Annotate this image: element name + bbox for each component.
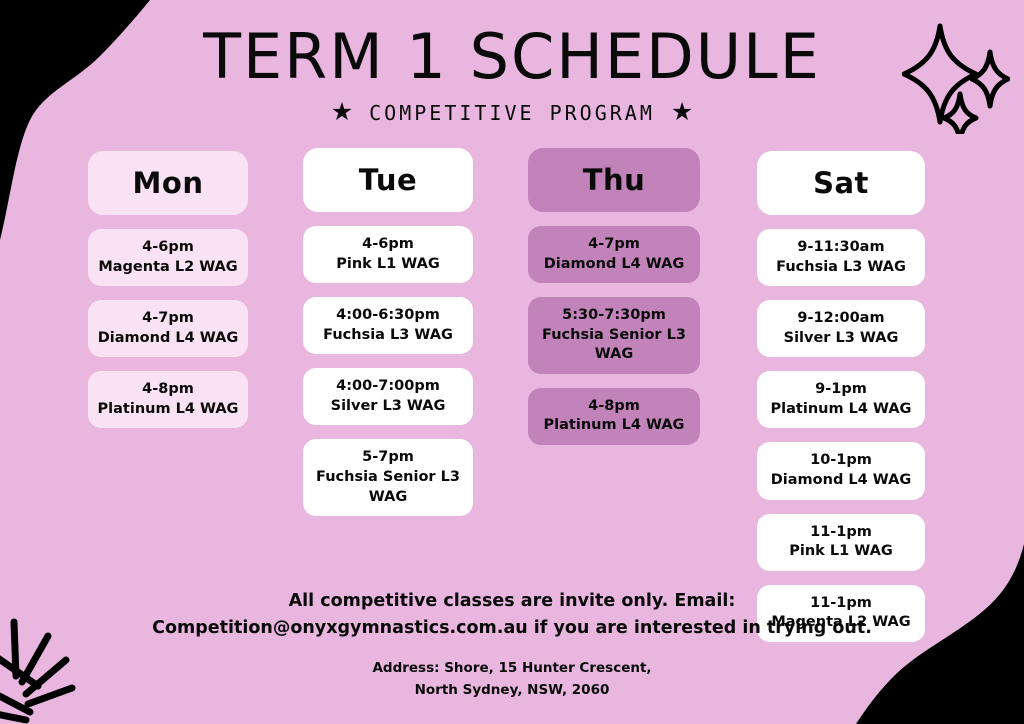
schedule-poster: TERM 1 SCHEDULE ★ COMPETITIVE PROGRAM ★ … — [0, 0, 1024, 724]
class-card: 10-1pm Diamond L4 WAG — [757, 442, 925, 499]
class-time: 11-1pm — [810, 523, 872, 543]
class-time: 5:30-7:30pm — [562, 306, 666, 326]
day-label: Thu — [583, 163, 646, 197]
class-card: 9-11:30am Fuchsia L3 WAG — [757, 229, 925, 286]
class-time: 10-1pm — [810, 451, 872, 471]
class-time: 4-8pm — [588, 397, 640, 417]
poster-heading: TERM 1 SCHEDULE ★ COMPETITIVE PROGRAM ★ — [0, 26, 1024, 125]
class-time: 9-1pm — [815, 380, 867, 400]
footer-address: Address: Shore, 15 Hunter Crescent, Nort… — [0, 658, 1024, 701]
class-card: 4-6pm Pink L1 WAG — [303, 226, 473, 283]
class-name: Fuchsia L3 WAG — [323, 326, 453, 346]
class-name: Pink L1 WAG — [336, 255, 439, 275]
class-card: 11-1pm Pink L1 WAG — [757, 514, 925, 571]
class-time: 5-7pm — [362, 448, 414, 468]
class-time: 4-7pm — [142, 309, 194, 329]
class-name: Fuchsia Senior L3 WAG — [311, 468, 465, 507]
class-name: Pink L1 WAG — [789, 542, 892, 562]
class-card: 4:00-6:30pm Fuchsia L3 WAG — [303, 297, 473, 354]
class-name: Platinum L4 WAG — [771, 400, 912, 420]
class-card: 4-6pm Magenta L2 WAG — [88, 229, 248, 286]
subtitle-row: ★ COMPETITIVE PROGRAM ★ — [0, 100, 1024, 125]
class-card: 5-7pm Fuchsia Senior L3 WAG — [303, 439, 473, 516]
class-card: 4-8pm Platinum L4 WAG — [88, 371, 248, 428]
poster-subtitle: COMPETITIVE PROGRAM — [369, 101, 655, 125]
address-line-1: Address: Shore, 15 Hunter Crescent, — [0, 658, 1024, 680]
class-time: 9-12:00am — [797, 309, 884, 329]
class-time: 4:00-7:00pm — [336, 377, 440, 397]
class-card: 9-12:00am Silver L3 WAG — [757, 300, 925, 357]
class-name: Fuchsia L3 WAG — [776, 258, 906, 278]
class-card: 4:00-7:00pm Silver L3 WAG — [303, 368, 473, 425]
schedule-grid: Mon 4-6pm Magenta L2 WAG 4-7pm Diamond L… — [0, 148, 1024, 618]
day-header-mon: Mon — [88, 151, 248, 215]
day-column-thu: Thu 4-7pm Diamond L4 WAG 5:30-7:30pm Fuc… — [528, 148, 700, 459]
class-name: Diamond L4 WAG — [771, 471, 911, 491]
page-title: TERM 1 SCHEDULE — [0, 26, 1024, 88]
class-name: Silver L3 WAG — [784, 329, 899, 349]
class-card: 5:30-7:30pm Fuchsia Senior L3 WAG — [528, 297, 700, 374]
day-column-sat: Sat 9-11:30am Fuchsia L3 WAG 9-12:00am S… — [757, 151, 925, 656]
day-label: Tue — [359, 163, 417, 197]
class-card: 4-7pm Diamond L4 WAG — [88, 300, 248, 357]
day-header-tue: Tue — [303, 148, 473, 212]
class-name: Diamond L4 WAG — [544, 255, 684, 275]
class-name: Silver L3 WAG — [331, 397, 446, 417]
class-card: 4-7pm Diamond L4 WAG — [528, 226, 700, 283]
class-time: 9-11:30am — [797, 238, 884, 258]
day-header-sat: Sat — [757, 151, 925, 215]
footer-note-line-1: All competitive classes are invite only.… — [0, 588, 1024, 615]
class-time: 4-8pm — [142, 380, 194, 400]
day-header-thu: Thu — [528, 148, 700, 212]
day-label: Mon — [133, 166, 204, 200]
star-icon-left: ★ — [331, 100, 353, 125]
class-time: 4-6pm — [362, 235, 414, 255]
footer-note: All competitive classes are invite only.… — [0, 588, 1024, 642]
class-name: Platinum L4 WAG — [544, 416, 685, 436]
class-name: Diamond L4 WAG — [98, 329, 238, 349]
class-name: Platinum L4 WAG — [98, 400, 239, 420]
class-card: 4-8pm Platinum L4 WAG — [528, 388, 700, 445]
address-line-2: North Sydney, NSW, 2060 — [0, 680, 1024, 702]
day-column-tue: Tue 4-6pm Pink L1 WAG 4:00-6:30pm Fuchsi… — [303, 148, 473, 530]
class-time: 4:00-6:30pm — [336, 306, 440, 326]
class-time: 4-6pm — [142, 238, 194, 258]
class-name: Magenta L2 WAG — [98, 258, 237, 278]
class-name: Fuchsia Senior L3 WAG — [536, 326, 692, 365]
footer-note-line-2: Competition@onyxgymnastics.com.au if you… — [0, 615, 1024, 642]
star-icon-right: ★ — [671, 100, 693, 125]
class-time: 4-7pm — [588, 235, 640, 255]
class-card: 9-1pm Platinum L4 WAG — [757, 371, 925, 428]
day-label: Sat — [813, 166, 869, 200]
day-column-mon: Mon 4-6pm Magenta L2 WAG 4-7pm Diamond L… — [88, 151, 248, 442]
